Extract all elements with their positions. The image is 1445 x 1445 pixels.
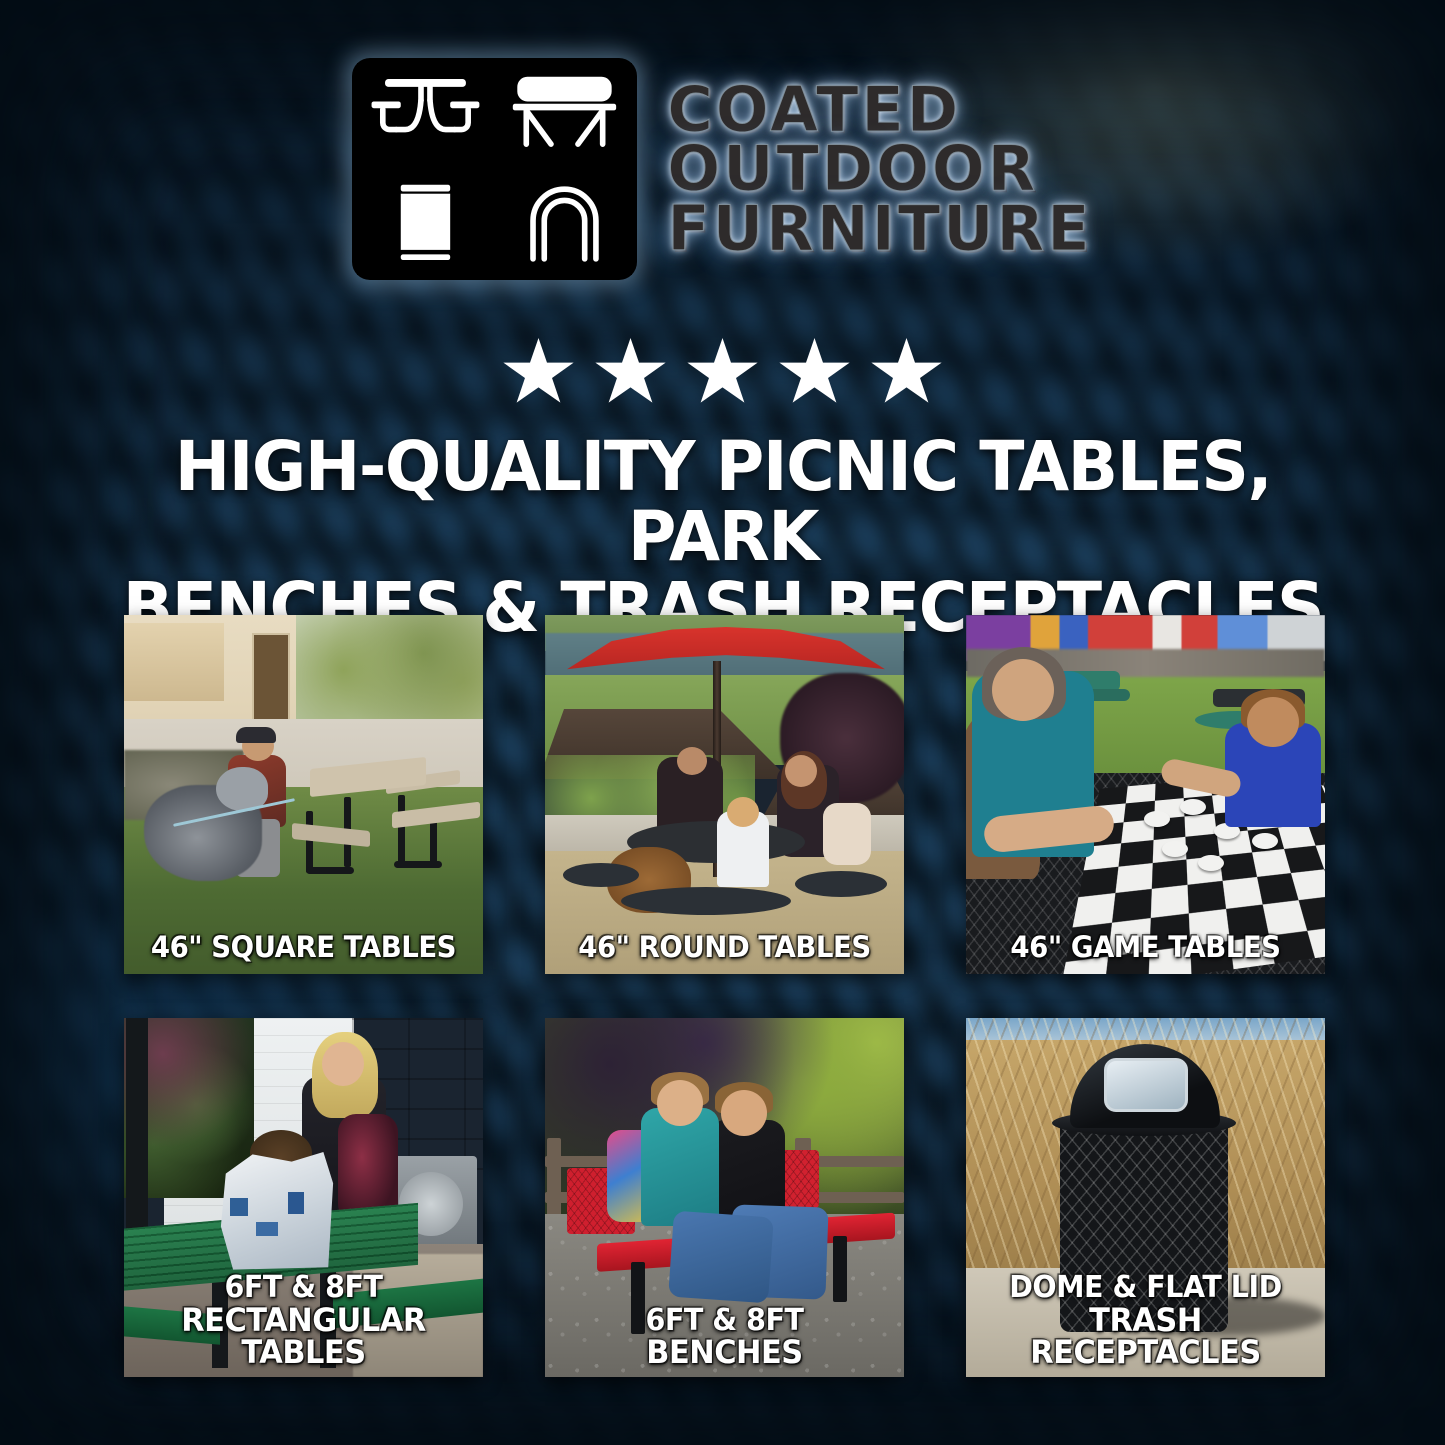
star-icon-2 [595, 338, 667, 408]
bench-leg-right [833, 1236, 847, 1302]
boy-head [1247, 697, 1299, 747]
checker-piece [1180, 799, 1206, 815]
round-bench-front [621, 887, 791, 915]
checker-piece [1144, 811, 1170, 827]
arch-icon [496, 171, 632, 276]
round-bench-left [563, 863, 639, 887]
woman-head [322, 1042, 364, 1086]
product-tile-round-tables[interactable]: 46" ROUND TABLES [545, 615, 904, 974]
product-tile-game-tables[interactable]: 46" GAME TABLES [966, 615, 1325, 974]
star-icon-3 [687, 338, 759, 408]
product-photo-square-tables [124, 615, 483, 974]
product-tile-square-tables[interactable]: 46" SQUARE TABLES [124, 615, 483, 974]
product-tile-benches[interactable]: 6FT & 8FT BENCHES [545, 1018, 904, 1377]
tile-caption: 46" GAME TABLES [975, 933, 1316, 962]
tile-caption: 6FT & 8FT BENCHES [554, 1306, 895, 1369]
checker-piece [1198, 855, 1224, 871]
brand-logo: COATED OUTDOOR FURNITURE [0, 58, 1445, 280]
child-head [727, 797, 759, 827]
checker-piece [1162, 841, 1188, 857]
boy-left-head [657, 1080, 703, 1126]
headline: HIGH-QUALITY PICNIC TABLES, PARK BENCHES… [88, 432, 1358, 643]
tile-caption-line-2: BENCHES [560, 1336, 890, 1369]
garage-door [124, 623, 224, 701]
logo-line-3: FURNITURE [667, 200, 1092, 257]
product-photo-round-tables [545, 615, 904, 974]
product-grid: 46" SQUARE TABLES [124, 615, 1322, 1377]
baby [823, 803, 871, 865]
product-tile-rectangular-tables[interactable]: 6FT & 8FT RECTANGULAR TABLES [124, 1018, 483, 1377]
tile-caption: 46" SQUARE TABLES [133, 933, 474, 962]
star-rating [0, 338, 1445, 408]
logo-icon-grid [352, 58, 637, 280]
tile-caption: 46" ROUND TABLES [554, 933, 895, 962]
front-door [252, 633, 290, 725]
round-bench-right [795, 871, 887, 897]
tile-caption: 6FT & 8FT RECTANGULAR TABLES [133, 1273, 474, 1369]
star-icon-4 [779, 338, 851, 408]
boy-right-head [721, 1090, 767, 1136]
soil-bag [216, 1152, 338, 1272]
woman-head [992, 659, 1054, 721]
star-icon-5 [871, 338, 943, 408]
tile-caption-line-1: 6FT & 8FT [646, 1303, 804, 1338]
round-picnic-table-icon [357, 63, 493, 168]
checker-piece [1252, 833, 1278, 849]
logo-line-1: COATED [667, 81, 1092, 138]
tile-caption-line-2: RECTANGULAR TABLES [139, 1304, 469, 1369]
logo-line-2: OUTDOOR [667, 140, 1092, 197]
tile-caption: DOME & FLAT LID TRASH RECEPTACLES [975, 1273, 1316, 1369]
baseball-cap [236, 727, 276, 743]
post [126, 1018, 148, 1248]
woman-head [785, 755, 817, 787]
tile-caption-line-1: 6FT & 8FT [225, 1270, 383, 1305]
jeans-left [668, 1211, 774, 1304]
tile-caption-line-2: TRASH RECEPTACLES [981, 1304, 1311, 1369]
headline-line-1: HIGH-QUALITY PICNIC TABLES, PARK [113, 432, 1332, 573]
star-icon-1 [503, 338, 575, 408]
product-tile-trash-receptacles[interactable]: DOME & FLAT LID TRASH RECEPTACLES [966, 1018, 1325, 1377]
lid-opening [1104, 1058, 1188, 1112]
product-photo-game-tables [966, 615, 1325, 974]
trash-receptacle-icon [357, 171, 493, 276]
tile-caption-line-1: DOME & FLAT LID [1009, 1270, 1282, 1305]
man-head [677, 747, 707, 775]
logo-wordmark: COATED OUTDOOR FURNITURE [667, 81, 1092, 256]
bench-icon [496, 63, 632, 168]
promo-poster: COATED OUTDOOR FURNITURE HIGH-QUALITY PI… [0, 0, 1445, 1445]
tree-backdrop [284, 615, 483, 725]
